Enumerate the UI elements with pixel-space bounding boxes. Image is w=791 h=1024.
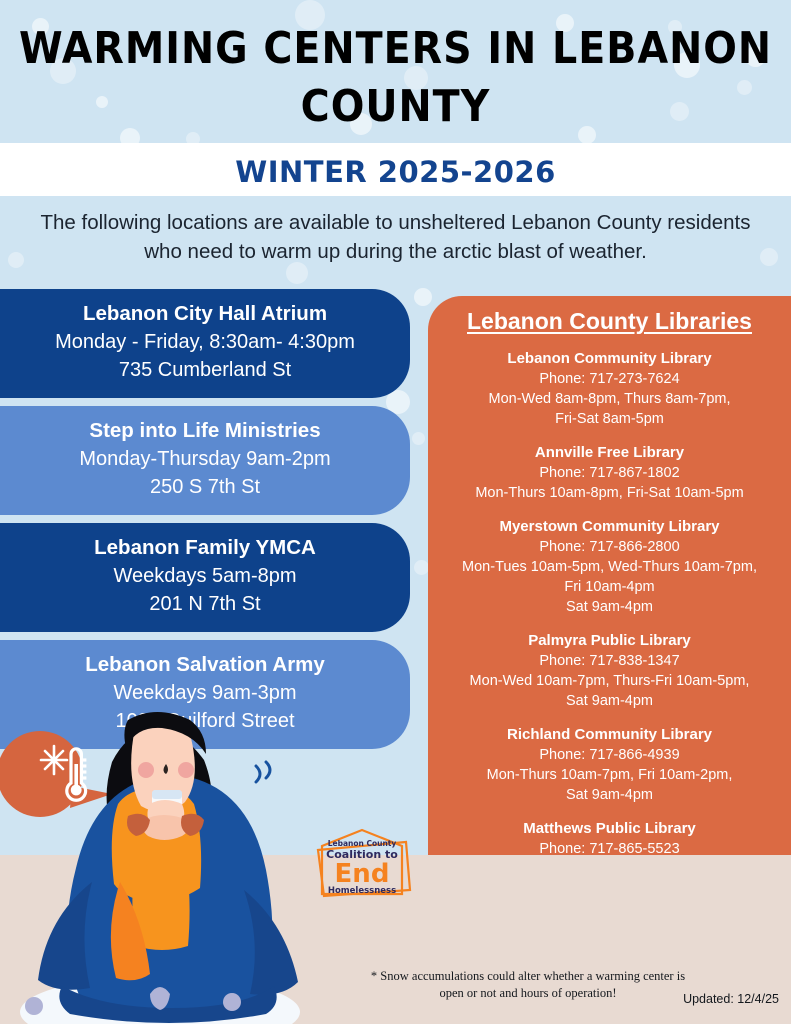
- library-entry-annville-free-library[interactable]: Annville Free Library Phone: 717-867-180…: [442, 442, 777, 503]
- library-hours-line: Mon-Thurs 10am-7pm, Fri 10am-2pm,: [442, 765, 777, 785]
- library-hours-line: Mon-Tues 10am-5pm, Wed-Thurs 10am-7pm,: [442, 557, 777, 577]
- coalition-to-end-homelessness-logo: Lebanon County Coalition to End Homeless…: [310, 828, 414, 898]
- location-card-lebanon-city-hall-atrium[interactable]: Lebanon City Hall Atrium Monday - Friday…: [0, 289, 410, 398]
- location-card-lebanon-family-ymca[interactable]: Lebanon Family YMCA Weekdays 5am-8pm 201…: [0, 523, 410, 632]
- library-hours-line: Sat 9am-4pm: [442, 785, 777, 805]
- location-name: Lebanon City Hall Atrium: [26, 300, 384, 327]
- library-phone: Phone: 717-838-1347: [442, 651, 777, 671]
- library-hours-line: Mon-Thurs 10am-8pm, Fri-Sat 10am-5pm: [442, 483, 777, 503]
- location-name: Lebanon Family YMCA: [26, 534, 384, 561]
- flyer-page: Warming Centers in Lebanon County Winter…: [0, 0, 791, 1024]
- location-name: Step into Life Ministries: [26, 417, 384, 444]
- library-entry-richland-community-library[interactable]: Richland Community Library Phone: 717-86…: [442, 724, 777, 805]
- location-address: 201 N 7th St: [26, 590, 384, 618]
- page-title: Warming Centers in Lebanon County: [0, 20, 791, 136]
- library-name: Annville Free Library: [442, 442, 777, 463]
- library-name: Lebanon Community Library: [442, 348, 777, 369]
- footnote-text: * Snow accumulations could alter whether…: [368, 968, 688, 1002]
- library-hours-line: Fri 10am-4pm: [442, 577, 777, 597]
- logo-line4: Homelessness: [328, 886, 396, 896]
- library-hours-line: Fri-Sat 8am-5pm: [442, 409, 777, 429]
- library-name: Matthews Public Library: [442, 818, 777, 839]
- location-address: 735 Cumberland St: [26, 356, 384, 384]
- cold-temperature-bubble: [0, 731, 112, 817]
- library-phone: Phone: 717-867-1802: [442, 463, 777, 483]
- library-phone: Phone: 717-273-7624: [442, 369, 777, 389]
- library-name: Richland Community Library: [442, 724, 777, 745]
- logo-line1: Lebanon County: [328, 839, 397, 848]
- location-address: 250 S 7th St: [26, 473, 384, 501]
- location-hours: Weekdays 9am-3pm: [26, 679, 384, 707]
- location-hours: Weekdays 5am-8pm: [26, 562, 384, 590]
- library-entry-myerstown-community-library[interactable]: Myerstown Community Library Phone: 717-8…: [442, 516, 777, 617]
- library-hours-line: Sat 9am-4pm: [442, 597, 777, 617]
- warming-centers-list: Lebanon City Hall Atrium Monday - Friday…: [0, 289, 410, 757]
- location-name: Lebanon Salvation Army: [26, 651, 384, 678]
- page-subtitle: Winter 2025-2026: [0, 155, 791, 189]
- logo-line3: End: [335, 859, 390, 889]
- location-card-step-into-life-ministries[interactable]: Step into Life Ministries Monday-Thursda…: [0, 406, 410, 515]
- library-phone: Phone: 717-866-2800: [442, 537, 777, 557]
- library-hours-line: Mon-Wed 8am-8pm, Thurs 8am-7pm,: [442, 389, 777, 409]
- library-name: Palmyra Public Library: [442, 630, 777, 651]
- library-name: Myerstown Community Library: [442, 516, 777, 537]
- location-hours: Monday-Thursday 9am-2pm: [26, 445, 384, 473]
- library-hours-line: Sat 9am-4pm: [442, 691, 777, 711]
- library-entry-lebanon-community-library[interactable]: Lebanon Community Library Phone: 717-273…: [442, 348, 777, 429]
- updated-date: Updated: 12/4/25: [683, 992, 779, 1006]
- library-entry-palmyra-public-library[interactable]: Palmyra Public Library Phone: 717-838-13…: [442, 630, 777, 711]
- libraries-panel-title: Lebanon County Libraries: [442, 308, 777, 335]
- location-hours: Monday - Friday, 8:30am- 4:30pm: [26, 328, 384, 356]
- library-phone: Phone: 717-866-4939: [442, 745, 777, 765]
- person-with-blanket-illustration: [0, 712, 330, 1024]
- library-hours-line: Mon-Wed 10am-7pm, Thurs-Fri 10am-5pm,: [442, 671, 777, 691]
- intro-paragraph: The following locations are available to…: [28, 208, 763, 266]
